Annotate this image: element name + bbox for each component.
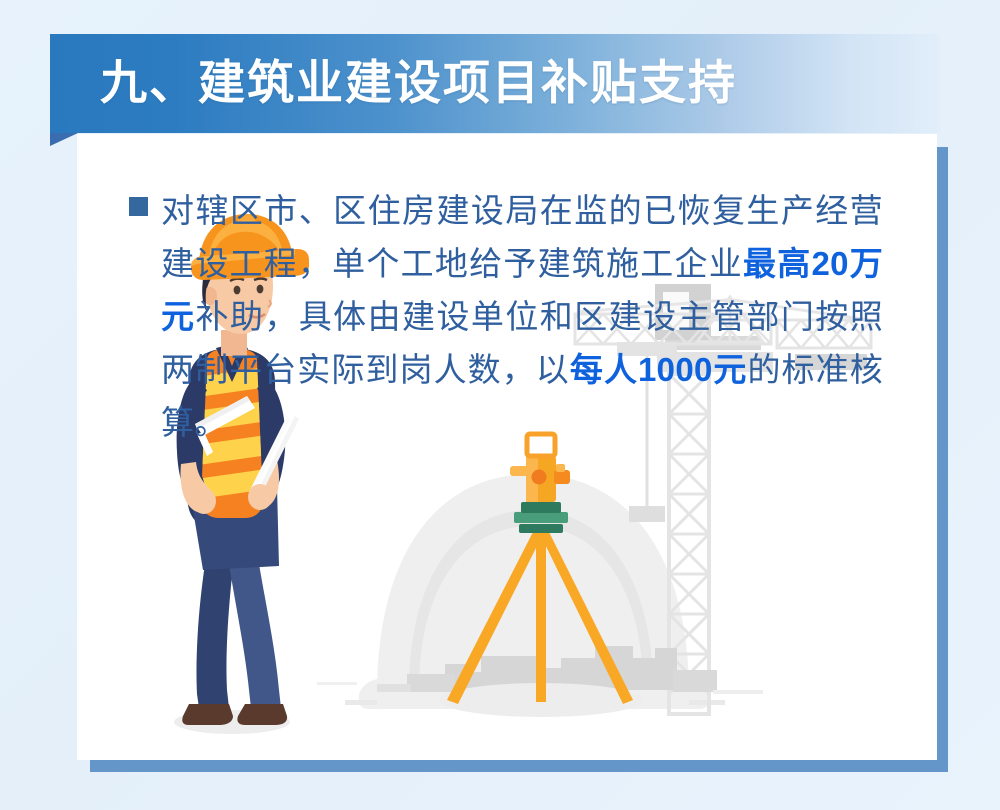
worker-hand-right [248, 484, 272, 510]
body-paragraph: 对辖区市、区住房建设局在监的已恢复生产经营建设工程，单个工地给予建筑施工企业最高… [161, 184, 883, 449]
banner-fold-corner [50, 133, 78, 146]
ground-line-right [713, 690, 763, 694]
theodolite-lens [532, 470, 547, 485]
worker-shoe-right [237, 704, 287, 725]
worker-leg-back [196, 564, 233, 708]
infographic-slide: 九、建筑业建设项目补贴支持 [0, 0, 1000, 810]
ground-line-left [317, 682, 357, 685]
highlighted-text-3: 每人1000元 [570, 351, 748, 388]
worker-leg-front [229, 564, 281, 708]
page-title: 九、建筑业建设项目补贴支持 [100, 52, 920, 114]
theodolite-base [519, 524, 563, 533]
worker-hand-left [192, 488, 216, 514]
worker-shoe-left [182, 704, 233, 725]
theodolite-base-upper [514, 512, 568, 523]
content-card: 对辖区市、区住房建设局在监的已恢复生产经营建设工程，单个工地给予建筑施工企业最高… [77, 134, 937, 760]
